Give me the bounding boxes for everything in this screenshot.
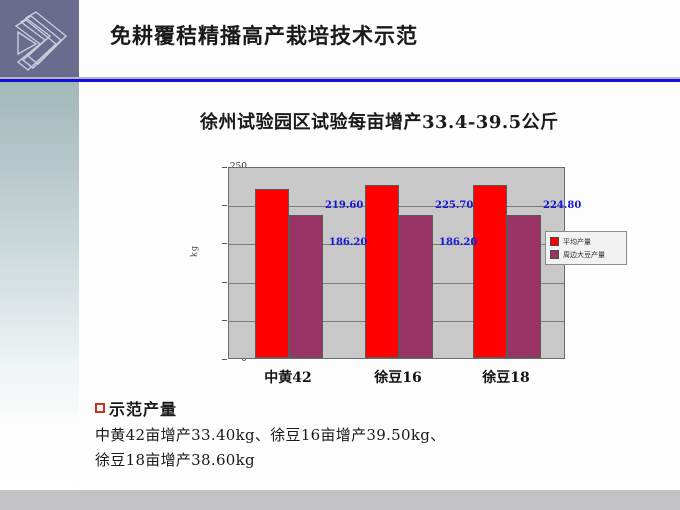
category-label-1: 徐豆16 [374,367,421,387]
legend-label-nb: 周边大豆产量 [563,250,605,260]
category-label-2: 徐豆18 [482,367,529,387]
y-tick-mark [222,243,227,244]
y-tick-mark [222,359,227,360]
slide-canvas: 免耕覆秸精播高产栽培技术示范 徐州试验园区试验每亩增产33.4-39.5公斤 k… [0,0,680,490]
legend-item-nb: 周边大豆产量 [550,248,622,261]
legend-swatch-icon [550,250,559,259]
chart-legend: 平均产量 周边大豆产量 [545,231,627,265]
bar-nb-0 [289,215,323,358]
bar-avg-2 [473,185,507,358]
plot-area: 219.60 186.20 225.70 186.20 224.80 186.2… [228,167,565,359]
body-line-1: 中黄42亩增产33.40kg、徐豆16亩增产39.50kg、 [95,424,445,445]
legend-label-avg: 平均产量 [563,237,591,247]
y-tick-mark [222,320,227,321]
bullet-heading-label: 示范产量 [109,396,177,420]
bar-nb-1 [399,215,433,358]
bar-nb-2 [507,215,541,358]
page-title: 免耕覆秸精播高产栽培技术示范 [110,20,418,50]
bar-avg-1 [365,185,399,358]
data-label-avg-0: 219.60 [325,200,363,211]
y-tick-mark [222,282,227,283]
chart-title: 徐州试验园区试验每亩增产33.4-39.5公斤 [200,108,559,134]
data-label-nb-0: 186.20 [329,237,367,248]
body-text-block: 示范产量 中黄42亩增产33.40kg、徐豆16亩增产39.50kg、 徐豆18… [95,396,445,470]
y-axis-label: kg [189,245,198,257]
data-label-avg-2: 224.80 [543,200,581,211]
category-label-0: 中黄42 [264,367,311,387]
legend-item-avg: 平均产量 [550,235,622,248]
title-rule [0,79,680,82]
bullet-heading: 示范产量 [95,396,445,420]
data-label-avg-1: 225.70 [435,200,473,211]
bottom-strip [0,490,680,510]
y-tick-mark [222,205,227,206]
legend-swatch-icon [550,237,559,246]
data-label-nb-1: 186.20 [439,237,477,248]
square-bullet-icon [95,403,105,413]
bar-avg-0 [255,189,289,358]
body-line-2: 徐豆18亩增产38.60kg [95,449,445,470]
stacked-arrow-logo-icon [6,6,74,74]
logo-box [0,0,79,80]
bar-chart: kg 250 200 150 100 50 0 219 [190,155,590,400]
y-tick-mark [222,167,227,168]
